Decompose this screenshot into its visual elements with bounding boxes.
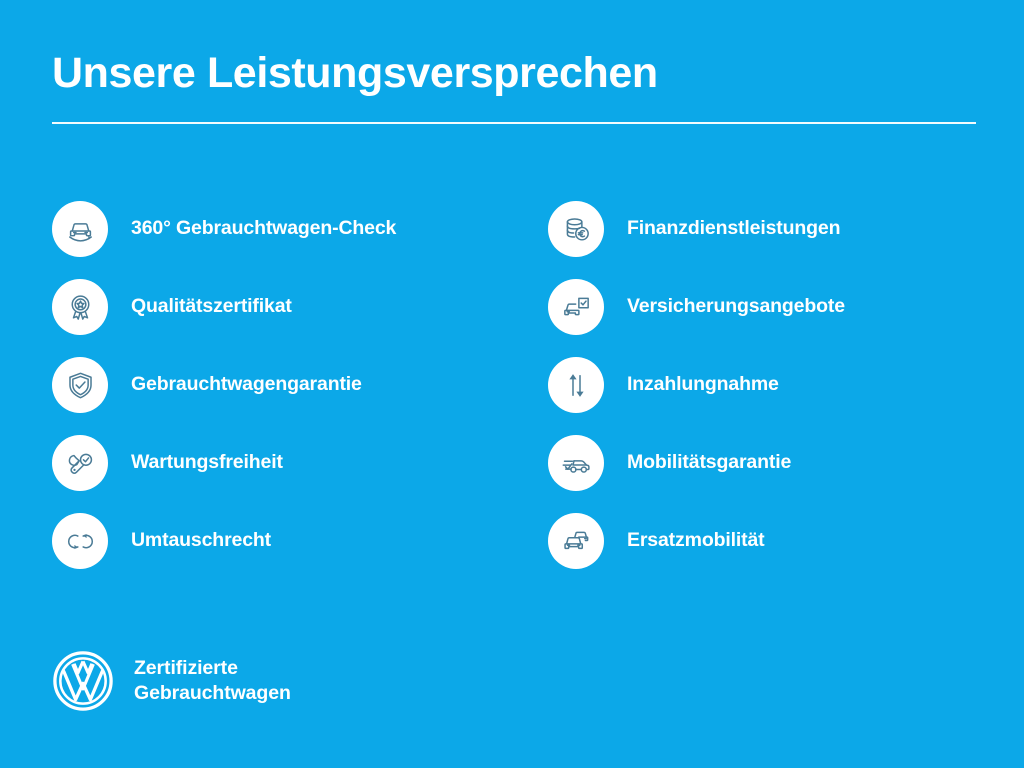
promise-item-warranty[interactable]: Gebrauchtwagengarantie bbox=[52, 354, 480, 416]
promise-item-trade-in[interactable]: Inzahlungnahme bbox=[548, 354, 976, 416]
promises-slide: Unsere Leistungsversprechen 360° Gebrauc bbox=[0, 0, 1024, 768]
brand-lockup: Zertifizierte Gebrauchtwagen bbox=[52, 650, 291, 712]
promise-item-quality-certificate[interactable]: Qualitätszertifikat bbox=[52, 276, 480, 338]
car-360-check-icon bbox=[52, 201, 108, 257]
promise-label: Gebrauchtwagengarantie bbox=[131, 373, 362, 396]
exchange-arrows-icon bbox=[52, 513, 108, 569]
shield-check-icon bbox=[52, 357, 108, 413]
brand-text-line1: Zertifizierte bbox=[134, 656, 291, 681]
header: Unsere Leistungsversprechen bbox=[52, 50, 976, 124]
car-motion-icon bbox=[548, 435, 604, 491]
award-rosette-icon bbox=[52, 279, 108, 335]
promise-item-mobility-guarantee[interactable]: Mobilitätsgarantie bbox=[548, 432, 976, 494]
promise-item-financial-services[interactable]: Finanzdienstleistungen bbox=[548, 198, 976, 260]
coins-euro-icon bbox=[548, 201, 604, 257]
title-divider bbox=[52, 122, 976, 124]
promise-item-insurance-offers[interactable]: Versicherungsangebote bbox=[548, 276, 976, 338]
promise-label: Mobilitätsgarantie bbox=[627, 451, 791, 474]
promise-label: Umtauschrecht bbox=[131, 529, 271, 552]
promise-item-replacement-mobility[interactable]: Ersatzmobilität bbox=[548, 510, 976, 572]
volkswagen-logo-icon bbox=[52, 650, 114, 712]
car-document-check-icon bbox=[548, 279, 604, 335]
brand-text-line2: Gebrauchtwagen bbox=[134, 681, 291, 706]
two-cars-icon bbox=[548, 513, 604, 569]
promise-item-maintenance-free[interactable]: Wartungsfreiheit bbox=[52, 432, 480, 494]
page-title: Unsere Leistungsversprechen bbox=[52, 50, 976, 96]
promise-label: Wartungsfreiheit bbox=[131, 451, 283, 474]
promise-label: 360° Gebrauchtwagen-Check bbox=[131, 217, 396, 240]
promise-label: Ersatzmobilität bbox=[627, 529, 765, 552]
promise-label: Qualitätszertifikat bbox=[131, 295, 292, 318]
promise-label: Finanzdienstleistungen bbox=[627, 217, 840, 240]
promises-columns: 360° Gebrauchtwagen-Check Qualitätszerti… bbox=[52, 198, 976, 572]
promises-column-left: 360° Gebrauchtwagen-Check Qualitätszerti… bbox=[52, 198, 480, 572]
promise-item-360-check[interactable]: 360° Gebrauchtwagen-Check bbox=[52, 198, 480, 260]
promises-column-right: Finanzdienstleistungen Versicherungsange… bbox=[548, 198, 976, 572]
wrench-check-icon bbox=[52, 435, 108, 491]
promise-item-exchange-right[interactable]: Umtauschrecht bbox=[52, 510, 480, 572]
up-down-arrows-icon bbox=[548, 357, 604, 413]
brand-text: Zertifizierte Gebrauchtwagen bbox=[134, 656, 291, 706]
promise-label: Versicherungsangebote bbox=[627, 295, 845, 318]
promise-label: Inzahlungnahme bbox=[627, 373, 779, 396]
